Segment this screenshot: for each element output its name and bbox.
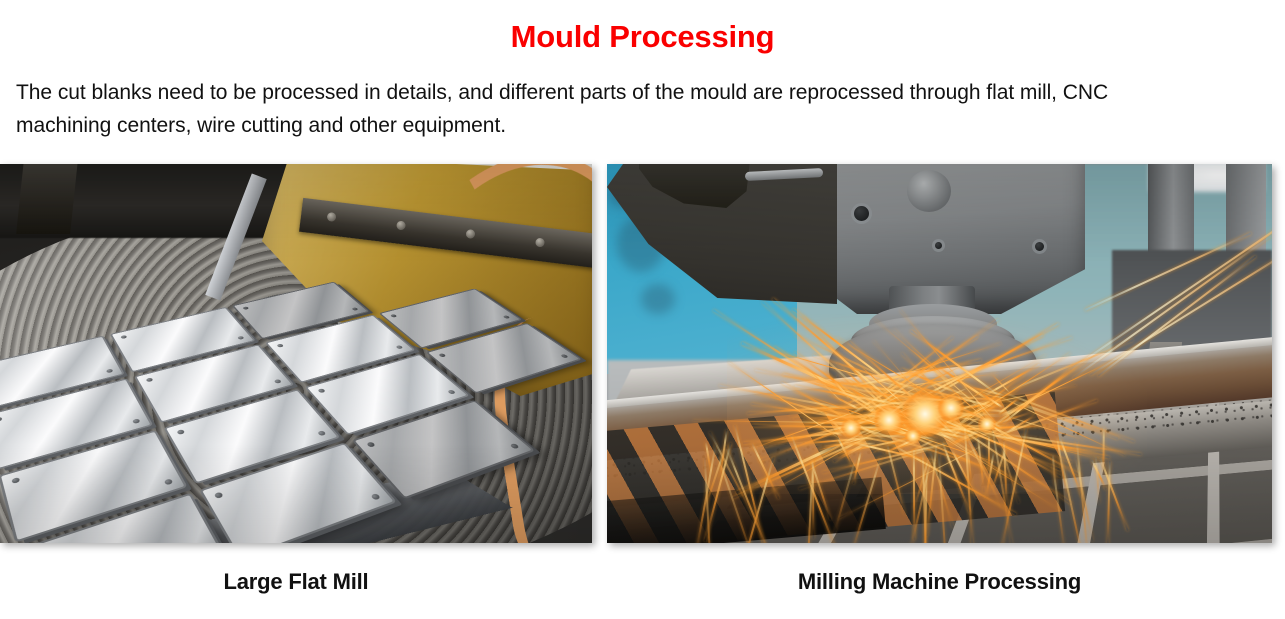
figure-row: Large Flat Mill bbox=[0, 164, 1285, 619]
intro-paragraph: The cut blanks need to be processed in d… bbox=[16, 76, 1206, 142]
mould-processing-section: Mould Processing The cut blanks need to … bbox=[0, 0, 1285, 619]
page-title: Mould Processing bbox=[0, 18, 1285, 56]
figure-caption-large-flat-mill: Large Flat Mill bbox=[0, 569, 592, 595]
photo-milling-machine-processing bbox=[607, 164, 1272, 543]
photo-vignette bbox=[0, 164, 592, 543]
figure-large-flat-mill: Large Flat Mill bbox=[0, 164, 592, 595]
photo-vignette bbox=[607, 164, 1272, 543]
photo-large-flat-mill bbox=[0, 164, 592, 543]
figure-caption-milling-machine-processing: Milling Machine Processing bbox=[607, 569, 1272, 595]
figure-milling-machine-processing: Milling Machine Processing bbox=[607, 164, 1272, 595]
